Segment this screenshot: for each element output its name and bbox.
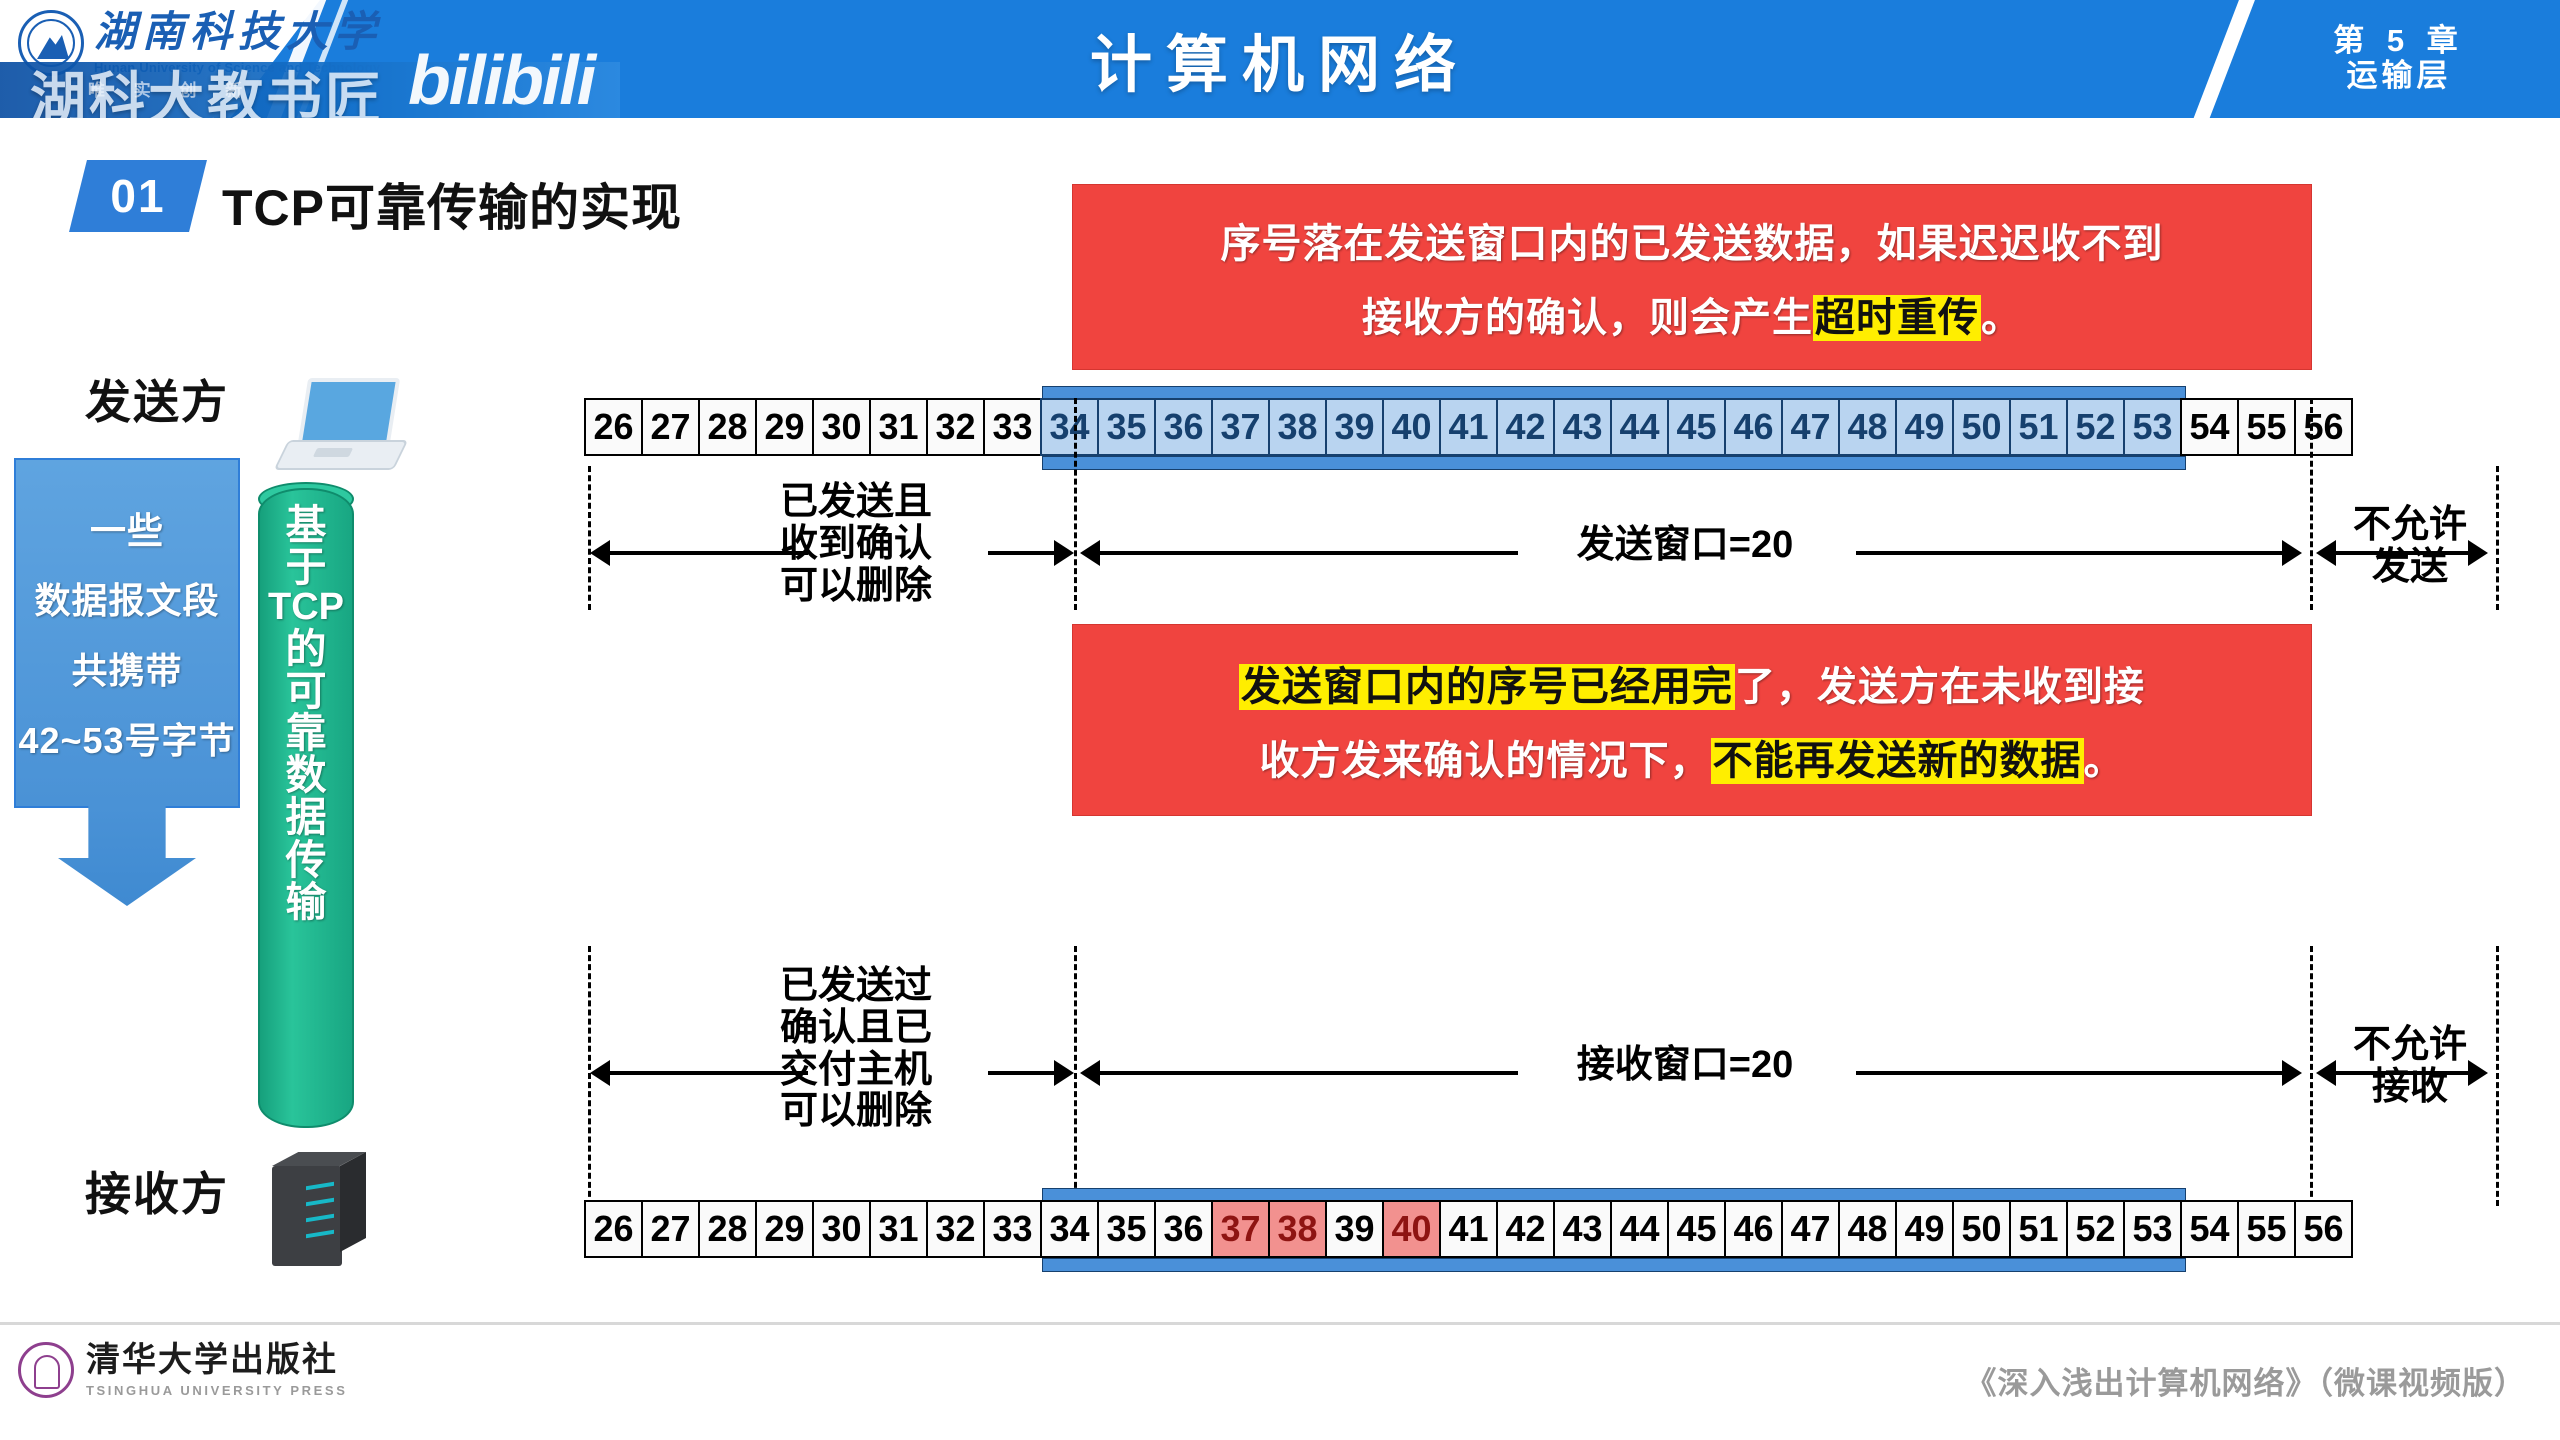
sequence-cell: 53 [2123, 1200, 2182, 1258]
receiver-window-label: 接收窗口=20 [1520, 1044, 1850, 1087]
sequence-cell: 55 [2237, 398, 2296, 456]
sequence-cell: 35 [1097, 1200, 1156, 1258]
sequence-cell: 33 [983, 398, 1042, 456]
sender-window-measure-line-a [1098, 551, 1518, 555]
sender-left-arrowhead-start [590, 540, 610, 566]
cylinder-char: 可 [286, 670, 327, 712]
segment-line-4: 42~53号字节 [18, 712, 235, 764]
measure-label-line: 已发送过 [716, 966, 996, 1008]
sequence-cell: 46 [1724, 1200, 1783, 1258]
receiver-label: 接收方 [85, 1158, 229, 1224]
sequence-cell: 34 [1040, 398, 1099, 456]
sequence-cell: 39 [1325, 398, 1384, 456]
sequence-cell: 27 [641, 1200, 700, 1258]
segment-line-1: 一些 [90, 502, 164, 554]
receiver-window-bar-bottom [1042, 1258, 2186, 1272]
sequence-cell: 38 [1268, 398, 1327, 456]
cylinder-char: 数 [286, 754, 327, 796]
receiver-right-label: 不允许接收 [2330, 1025, 2490, 1109]
sequence-cell: 36 [1154, 1200, 1213, 1258]
sequence-cell: 54 [2180, 398, 2239, 456]
sequence-cell: 26 [584, 398, 643, 456]
sequence-cell: 41 [1439, 1200, 1498, 1258]
sequence-cell: 31 [869, 398, 928, 456]
sender-sequence-row: 2627282930313233343536373839404142434445… [586, 398, 2353, 456]
section-number: 01 [78, 160, 198, 232]
university-name-cn: 湖南科技大学 [94, 12, 382, 54]
sequence-cell: 42 [1496, 1200, 1555, 1258]
sequence-cell: 44 [1610, 1200, 1669, 1258]
sequence-cell: 45 [1667, 1200, 1726, 1258]
callout-text: 。 [2084, 739, 2125, 783]
sequence-cell: 40 [1382, 398, 1441, 456]
laptop-trackpad-icon [313, 448, 353, 457]
receiver-left-arrowhead-end [1054, 1060, 1074, 1086]
receiver-window-measure-line-a [1098, 1071, 1518, 1075]
sequence-cell: 42 [1496, 398, 1555, 456]
sequence-cell: 26 [584, 1200, 643, 1258]
chapter-number: 第 5 章 [2333, 24, 2464, 59]
sequence-cell: 46 [1724, 398, 1783, 456]
sequence-cell: 32 [926, 398, 985, 456]
sender-dash-right [2496, 466, 2499, 610]
laptop-icon [275, 378, 405, 488]
sequence-cell: 45 [1667, 398, 1726, 456]
callout-text: 收方发来确认的情况下， [1260, 739, 1711, 783]
sender-window-arrowhead-end [2282, 540, 2302, 566]
sequence-cell: 51 [2009, 1200, 2068, 1258]
receiver-dash-window-start [1074, 946, 1077, 1206]
measure-label-line: 收到确认 [716, 524, 996, 566]
sender-right-label: 不允许发送 [2330, 505, 2490, 589]
highlighted-phrase: 发送窗口内的序号已经用完 [1239, 664, 1735, 710]
sequence-cell: 48 [1838, 1200, 1897, 1258]
window-exhausted-callout: 发送窗口内的序号已经用完了，发送方在未收到接 收方发来确认的情况下，不能再发送新… [1072, 624, 2312, 816]
sequence-cell: 54 [2180, 1200, 2239, 1258]
header-right-slash-decor [2185, 0, 2259, 118]
measure-label-line: 可以删除 [716, 1091, 996, 1133]
sequence-cell: 47 [1781, 398, 1840, 456]
sequence-cell: 28 [698, 398, 757, 456]
sequence-cell: 47 [1781, 1200, 1840, 1258]
callout-text: 了，发送方在未收到接 [1735, 665, 2145, 709]
cylinder-char: 于 [286, 546, 327, 588]
measure-label-line: 接收 [2330, 1067, 2490, 1109]
measure-label-line: 不允许 [2330, 1025, 2490, 1067]
highlighted-phrase: 超时重传 [1813, 295, 1981, 341]
footer-divider [0, 1322, 2560, 1325]
callout-text: 序号落在发送窗口内的已发送数据，如果迟迟收不到 [1221, 222, 2164, 266]
sender-window-label: 发送窗口=20 [1520, 524, 1850, 567]
publisher-seal-icon [18, 1342, 74, 1398]
sequence-cell: 37 [1211, 1200, 1270, 1258]
sequence-cell: 52 [2066, 398, 2125, 456]
sequence-cell: 35 [1097, 398, 1156, 456]
sequence-cell: 48 [1838, 398, 1897, 456]
sequence-cell: 34 [1040, 1200, 1099, 1258]
sequence-cell: 30 [812, 1200, 871, 1258]
page-header: 湖南科技大学 Hunan University of Science and T… [0, 0, 2560, 118]
publisher-logo: 清华大学出版社 TSINGHUA UNIVERSITY PRESS [18, 1342, 347, 1398]
cylinder-char: 靠 [286, 712, 327, 754]
watermark-channel-name: 湖科大教书匠 [30, 54, 384, 118]
bilibili-logo: bilibili [408, 40, 594, 118]
segment-line-2: 数据报文段 [34, 572, 219, 624]
measure-label-line: 可以删除 [716, 566, 996, 608]
sender-window-bar-bottom [1042, 456, 2186, 470]
receiver-window-arrowhead-start [1080, 1060, 1100, 1086]
receiver-left-measure-line-2 [988, 1071, 1060, 1075]
callout-top-line-1: 序号落在发送窗口内的已发送数据，如果迟迟收不到 [1221, 211, 2164, 269]
sender-left-measure-line-2 [988, 551, 1060, 555]
sequence-cell: 44 [1610, 398, 1669, 456]
server-side-face [340, 1152, 366, 1252]
cylinder-char: 据 [286, 796, 327, 838]
server-icon [272, 1152, 372, 1272]
sender-label: 发送方 [85, 366, 229, 432]
measure-label-line: 交付主机 [716, 1050, 996, 1092]
chapter-indicator: 第 5 章 运输层 [2264, 4, 2534, 114]
callout-text: 。 [1981, 296, 2022, 340]
publisher-name-cn: 清华大学出版社 [86, 1344, 347, 1378]
callout-bottom-line-2: 收方发来确认的情况下，不能再发送新的数据。 [1260, 728, 2125, 786]
receiver-window-arrowhead-end [2282, 1060, 2302, 1086]
measure-label-line: 确认且已 [716, 1008, 996, 1050]
segment-description-box: 一些 数据报文段 共携带 42~53号字节 [14, 458, 240, 808]
sequence-cell: 27 [641, 398, 700, 456]
publisher-name-block: 清华大学出版社 TSINGHUA UNIVERSITY PRESS [86, 1344, 347, 1397]
cylinder-char: 的 [286, 628, 327, 670]
sequence-cell: 41 [1439, 398, 1498, 456]
sender-left-arrowhead-end [1054, 540, 1074, 566]
receiver-dash-window-end [2310, 946, 2313, 1206]
sequence-cell: 28 [698, 1200, 757, 1258]
callout-text: 接收方的确认，则会产生 [1362, 296, 1813, 340]
sequence-cell: 51 [2009, 398, 2068, 456]
sequence-cell: 38 [1268, 1200, 1327, 1258]
receiver-window-measure-line-b [1856, 1071, 2284, 1075]
sender-left-label: 已发送且收到确认可以删除 [716, 482, 996, 607]
sequence-cell: 56 [2294, 1200, 2353, 1258]
highlighted-phrase: 不能再发送新的数据 [1711, 738, 2084, 784]
sequence-cell: 32 [926, 1200, 985, 1258]
sender-window-measure-line-b [1856, 551, 2284, 555]
callout-bottom-line-1: 发送窗口内的序号已经用完了，发送方在未收到接 [1239, 654, 2145, 712]
cylinder-char: 输 [286, 881, 327, 923]
callout-top-line-2: 接收方的确认，则会产生超时重传。 [1362, 285, 2022, 343]
receiver-left-label: 已发送过确认且已交付主机可以删除 [716, 966, 996, 1133]
measure-label-line: 发送 [2330, 547, 2490, 589]
cylinder-char: TCP [268, 588, 344, 627]
laptop-screen-icon [298, 378, 400, 444]
receiver-left-arrowhead-start [590, 1060, 610, 1086]
measure-label-line: 已发送且 [716, 482, 996, 524]
sequence-cell: 29 [755, 398, 814, 456]
sequence-cell: 49 [1895, 398, 1954, 456]
receiver-sequence-row: 2627282930313233343536373839404142434445… [586, 1200, 2353, 1258]
sequence-cell: 31 [869, 1200, 928, 1258]
sequence-cell: 36 [1154, 398, 1213, 456]
sequence-cell: 50 [1952, 398, 2011, 456]
sequence-cell: 40 [1382, 1200, 1441, 1258]
chapter-name: 运输层 [2347, 59, 2452, 94]
sequence-cell: 50 [1952, 1200, 2011, 1258]
sequence-cell: 53 [2123, 398, 2182, 456]
receiver-dash-right [2496, 946, 2499, 1206]
sequence-cell: 55 [2237, 1200, 2296, 1258]
timeout-retransmit-callout: 序号落在发送窗口内的已发送数据，如果迟迟收不到 接收方的确认，则会产生超时重传。 [1072, 184, 2312, 370]
segment-line-3: 共携带 [71, 642, 182, 694]
sequence-cell: 30 [812, 398, 871, 456]
section-title: TCP可靠传输的实现 [222, 168, 682, 240]
cylinder-vertical-label: 基于TCP的可靠数据传输 [258, 504, 354, 1118]
sequence-cell: 39 [1325, 1200, 1384, 1258]
publisher-name-en: TSINGHUA UNIVERSITY PRESS [86, 1384, 347, 1397]
sequence-cell: 37 [1211, 398, 1270, 456]
sequence-cell: 33 [983, 1200, 1042, 1258]
sequence-cell: 52 [2066, 1200, 2125, 1258]
cylinder-char: 传 [286, 839, 327, 881]
sender-dash-left [588, 466, 591, 610]
sequence-cell: 56 [2294, 398, 2353, 456]
down-arrow-icon [58, 806, 196, 906]
sender-window-arrowhead-start [1080, 540, 1100, 566]
measure-label-line: 不允许 [2330, 505, 2490, 547]
sender-dash-window-end [2310, 398, 2313, 610]
sender-dash-window-start [1074, 398, 1077, 610]
sequence-cell: 49 [1895, 1200, 1954, 1258]
book-title-footer: 《深入浅出计算机网络》（微课视频版） [1966, 1358, 2527, 1403]
sequence-cell: 43 [1553, 1200, 1612, 1258]
sequence-cell: 43 [1553, 398, 1612, 456]
cylinder-char: 基 [286, 504, 327, 546]
sequence-cell: 29 [755, 1200, 814, 1258]
